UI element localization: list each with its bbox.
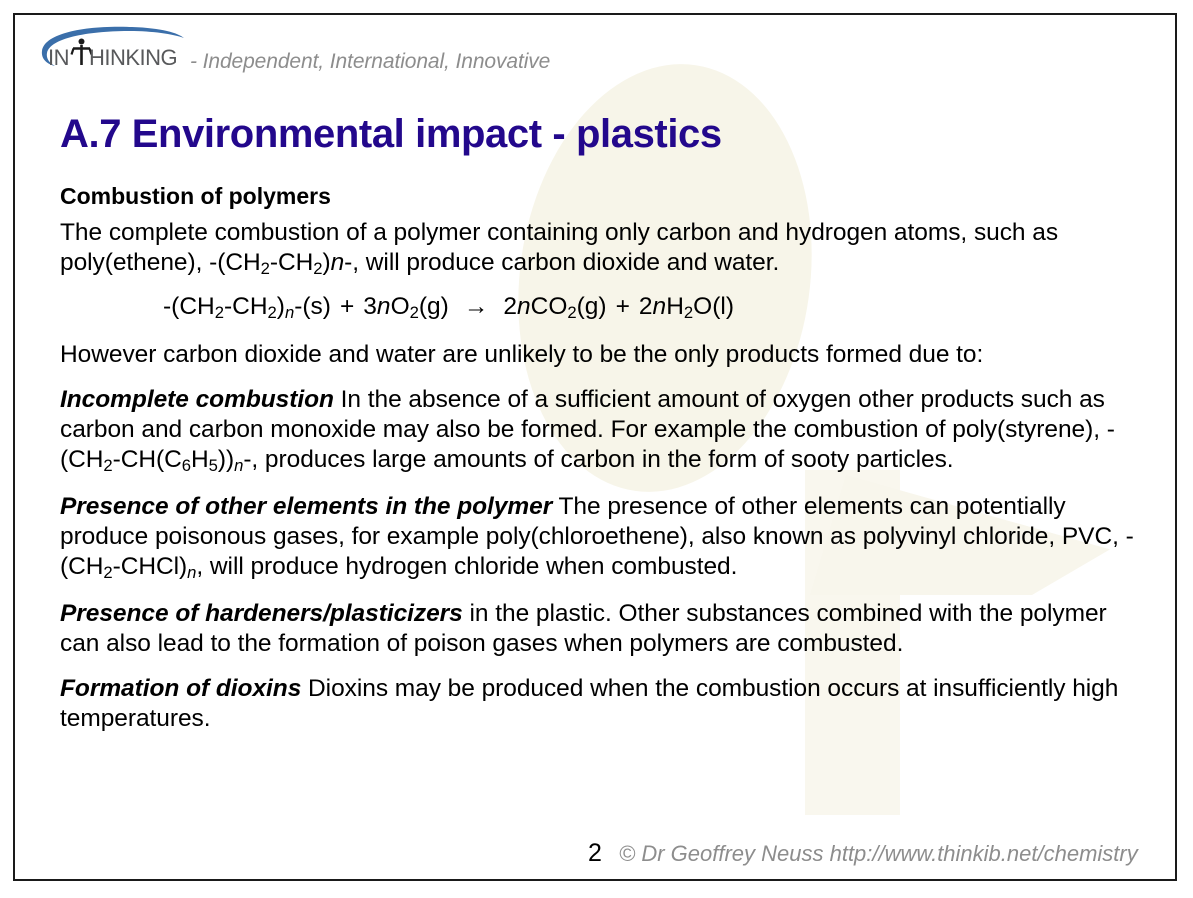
point-1-n-italic: n — [187, 563, 196, 582]
slide-footer: 2 © Dr Geoffrey Neuss http://www.thinkib… — [15, 839, 1175, 879]
intro-n-italic: n — [331, 249, 345, 276]
point-lead-hardeners: Presence of hardeners/plasticizers — [60, 600, 463, 627]
eq-oxygen-symbol: O — [391, 293, 410, 320]
however-paragraph: However carbon dioxide and water are unl… — [60, 340, 1150, 370]
eq-co2-n: n — [517, 293, 531, 320]
intro-sub-2: 2 — [313, 259, 322, 278]
eq-water-state: (l) — [712, 293, 734, 320]
intro-line-2g: -, will produce carbon dioxide and water… — [344, 249, 779, 276]
eq-polymer-close: ) — [277, 293, 285, 320]
logo-tagline: - Independent, International, Innovative — [190, 50, 550, 74]
intro-line-2c: -CH — [270, 249, 313, 276]
logo-text-in: IN — [48, 45, 69, 70]
eq-co2-sub: 2 — [567, 303, 576, 322]
eq-co2-state: (g) — [577, 293, 607, 320]
point-0-body-2: -CH(C — [113, 446, 182, 473]
eq-water-coeff: 2 — [639, 293, 653, 320]
eq-polymer-n: n — [285, 303, 294, 322]
point-0-sub-3: 5 — [209, 456, 218, 475]
point-lead-incomplete-combustion: Incomplete combustion — [60, 386, 334, 413]
slide-canvas: IN HINKING - Independent, International,… — [13, 13, 1177, 881]
point-0-body-4: )) — [218, 446, 234, 473]
intro-sub-1: 2 — [261, 259, 270, 278]
eq-polymer-mid: -CH — [224, 293, 268, 320]
section-subheading: Combustion of polymers — [60, 181, 1150, 211]
eq-oxygen-state: (g) — [419, 293, 449, 320]
intro-line-1: The complete combustion of a polymer con… — [60, 219, 967, 246]
point-0-body-3: H — [191, 446, 209, 473]
page-number: 2 — [588, 839, 602, 868]
eq-water-n: n — [653, 293, 667, 320]
point-other-elements: Presence of other elements in the polyme… — [60, 492, 1150, 584]
copyright-notice: © Dr Geoffrey Neuss http://www.thinkib.n… — [619, 841, 1138, 867]
logo-svg: IN HINKING — [34, 25, 186, 73]
page-title: A.7 Environmental impact - plastics — [60, 112, 722, 157]
eq-oxygen-n: n — [377, 293, 391, 320]
eq-water-sub: 2 — [684, 303, 693, 322]
eq-oxygen-coeff: 3 — [363, 293, 377, 320]
point-formation-of-dioxins: Formation of dioxins Dioxins may be prod… — [60, 674, 1150, 734]
point-lead-other-elements: Presence of other elements in the polyme… — [60, 493, 552, 520]
inthinking-logo[interactable]: IN HINKING — [34, 25, 186, 73]
intro-line-2e: ) — [322, 249, 330, 276]
eq-plus-1: + — [340, 293, 354, 320]
point-0-sub-1: 2 — [103, 456, 112, 475]
point-0-n-italic: n — [234, 456, 243, 475]
slide-header: IN HINKING - Independent, International,… — [15, 15, 1175, 77]
eq-co2-coeff: 2 — [503, 293, 517, 320]
intro-paragraph: The complete combustion of a polymer con… — [60, 218, 1150, 280]
point-lead-dioxins: Formation of dioxins — [60, 675, 301, 702]
point-0-sub-2: 6 — [182, 456, 191, 475]
eq-co2-symbol: CO — [531, 293, 568, 320]
point-incomplete-combustion: Incomplete combustion In the absence of … — [60, 385, 1150, 477]
point-hardeners-plasticizers: Presence of hardeners/plasticizers in th… — [60, 599, 1150, 659]
eq-polymer-sub2: 2 — [268, 303, 277, 322]
logo-text-hinking: HINKING — [89, 45, 177, 70]
point-1-body-3: , will produce hydrogen chloride when co… — [196, 553, 737, 580]
eq-oxygen-sub: 2 — [410, 303, 419, 322]
combustion-equation: -(CH2-CH2)n-(s)+3nO2(g)→2nCO2(g)+2nH2O(l… — [60, 292, 1150, 324]
point-1-sub-1: 2 — [103, 563, 112, 582]
eq-water-symbol-o: O — [693, 293, 712, 320]
eq-polymer-pre: -(CH — [163, 293, 215, 320]
point-1-body-2: -CHCl) — [113, 553, 188, 580]
eq-polymer-state: -(s) — [294, 293, 331, 320]
eq-plus-2: + — [616, 293, 630, 320]
eq-polymer-sub1: 2 — [215, 303, 224, 322]
point-0-body-5: -, produces large amounts of carbon in t… — [243, 446, 953, 473]
eq-water-symbol-h: H — [666, 293, 684, 320]
eq-reaction-arrow-icon: → — [458, 293, 495, 320]
slide-body: Combustion of polymers The complete comb… — [60, 181, 1150, 744]
